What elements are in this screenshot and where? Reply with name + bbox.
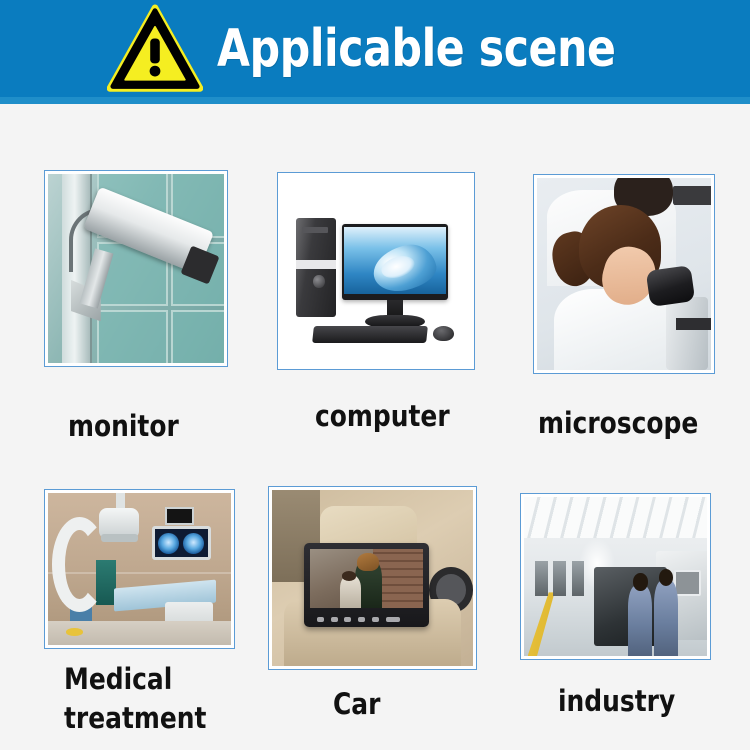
scene-caption-monitor: monitor — [68, 407, 179, 446]
scene-image-medical — [44, 489, 235, 649]
warning-triangle-icon — [107, 4, 203, 96]
scene-caption-computer: computer — [315, 397, 450, 436]
header-underline — [0, 97, 750, 104]
scene-caption-industry: industry — [558, 682, 675, 721]
factory-floor-photo — [524, 497, 707, 656]
scene-caption-medical: Medical treatment — [64, 660, 206, 738]
scene-image-industry — [520, 493, 711, 660]
microscope-lab-photo — [537, 178, 711, 370]
scene-grid: monitor computer — [0, 104, 750, 750]
scene-caption-car: Car — [333, 685, 380, 724]
scene-image-microscope — [533, 174, 715, 374]
scene-image-computer — [277, 172, 475, 370]
car-headrest-screen-photo — [272, 490, 473, 666]
operating-room-photo — [48, 493, 231, 645]
scene-caption-microscope: microscope — [538, 404, 698, 443]
cctv-camera-photo — [48, 174, 224, 363]
desktop-computer-photo — [281, 176, 471, 366]
scene-image-car — [268, 486, 477, 670]
header-content: Applicable scene — [0, 0, 750, 97]
scene-image-monitor — [44, 170, 228, 367]
page-header: Applicable scene — [0, 0, 750, 97]
page-title: Applicable scene — [217, 23, 616, 75]
